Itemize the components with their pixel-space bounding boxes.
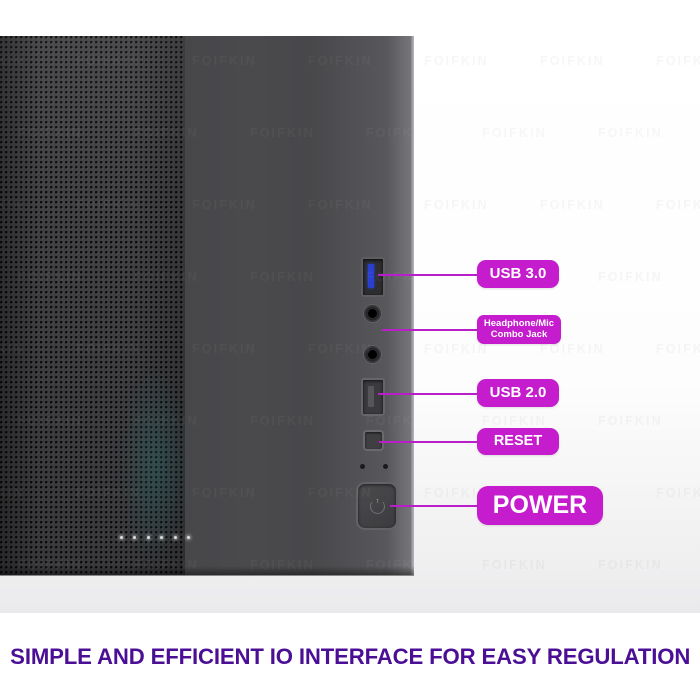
callout-badge-audio[interactable]: Headphone/Mic Combo Jack	[477, 315, 561, 344]
leader-line-usb3	[378, 274, 478, 276]
callout-label-reset: RESET	[494, 434, 542, 450]
leader-line-power	[390, 505, 478, 507]
usb-3-tongue	[368, 264, 374, 288]
callout-badge-reset[interactable]: RESET	[477, 428, 559, 455]
callout-label-audio: Headphone/Mic Combo Jack	[484, 319, 554, 340]
usb-3-port[interactable]	[361, 257, 385, 297]
leader-line-reset	[379, 441, 478, 443]
pc-case	[0, 36, 414, 575]
callout-label-audio-line2: Combo Jack	[491, 329, 548, 340]
led-indicator-strip	[120, 534, 190, 540]
callout-badge-usb2[interactable]: USB 2.0	[477, 379, 559, 407]
callout-label-usb3: USB 3.0	[490, 266, 547, 282]
headphone-jack-port[interactable]	[364, 305, 381, 322]
callout-label-power: POWER	[493, 492, 587, 519]
product-photo: FOIFKINFOIFKINFOIFKINFOIFKINFOIFKINFOIFK…	[0, 36, 700, 613]
caption-text: SIMPLE AND EFFICIENT IO INTERFACE FOR EA…	[10, 644, 690, 670]
usb-2-tongue	[368, 386, 374, 407]
callout-label-usb2: USB 2.0	[490, 385, 547, 401]
case-bottom-shadow	[0, 566, 414, 576]
status-led-pair	[360, 464, 388, 469]
callout-badge-usb3[interactable]: USB 3.0	[477, 260, 559, 288]
callout-badge-power[interactable]: POWER	[477, 486, 603, 525]
power-symbol-icon	[370, 499, 385, 514]
leader-line-audio	[382, 329, 478, 331]
case-mesh-panel	[0, 36, 185, 575]
caption-bar: SIMPLE AND EFFICIENT IO INTERFACE FOR EA…	[0, 613, 700, 700]
microphone-jack-port[interactable]	[364, 346, 381, 363]
usb-2-port[interactable]	[361, 378, 385, 416]
leader-line-usb2	[378, 393, 478, 395]
